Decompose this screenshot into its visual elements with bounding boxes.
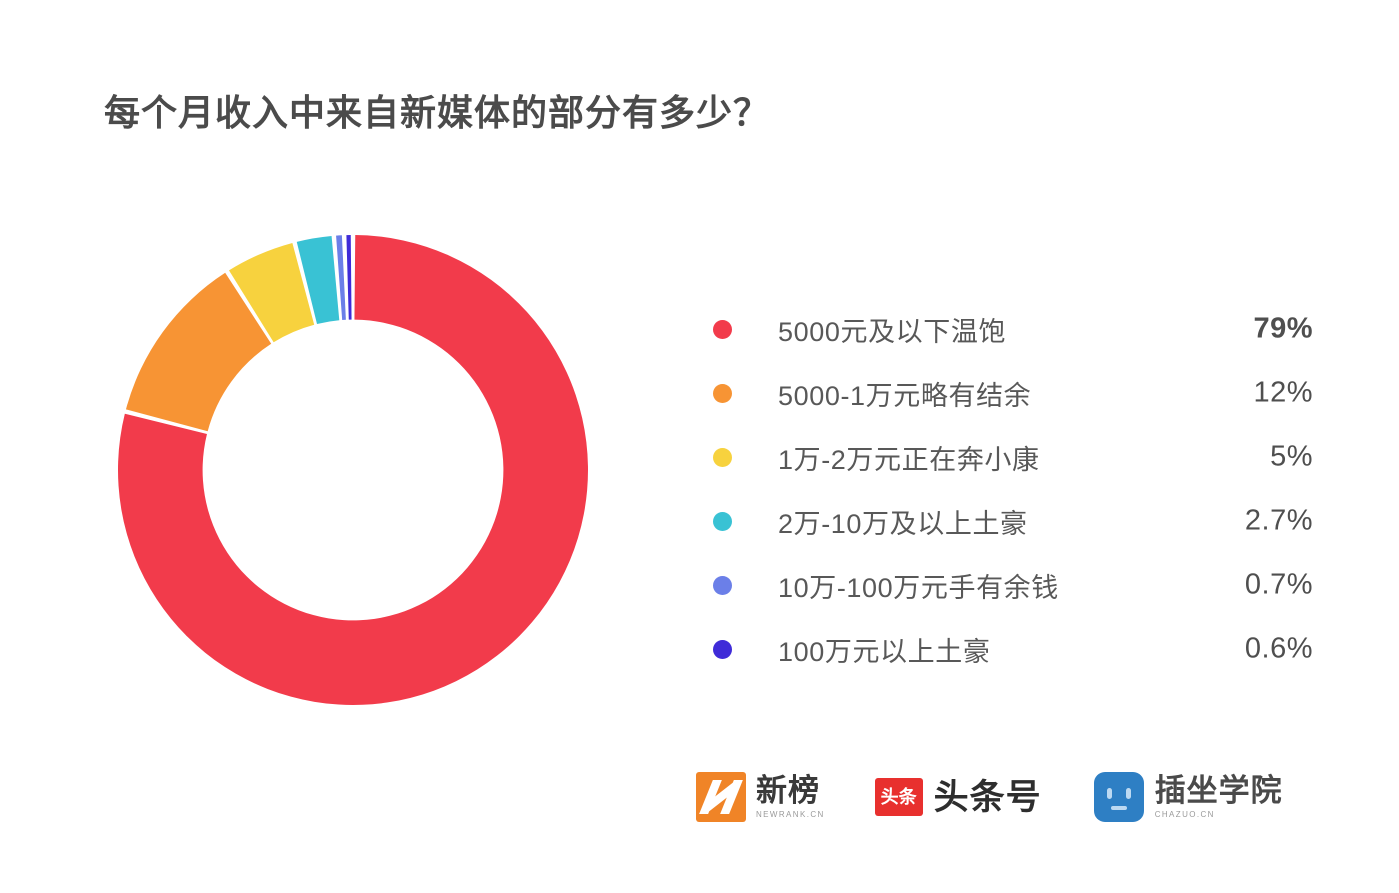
legend-item-label: 5000-1万元略有结余 xyxy=(778,374,1031,413)
newrank-logo-url: NEWRANK.CN xyxy=(756,810,825,819)
logo-toutiaohao: 头条 头条号 xyxy=(875,778,1042,816)
legend-item[interactable]: 1万-2万元正在奔小康 5% xyxy=(713,425,1313,489)
chazuo-logo-name: 插坐学院 xyxy=(1155,775,1283,806)
legend-item-value: 79% xyxy=(1183,313,1313,346)
logo-newrank: 新榜 NEWRANK.CN xyxy=(696,772,825,822)
legend-item-label: 100万元以上土豪 xyxy=(778,630,990,669)
logo-chazuo: 插坐学院 CHAZUO.CN xyxy=(1094,772,1283,822)
legend-color-dot xyxy=(713,384,732,403)
legend-item[interactable]: 10万-100万元手有余钱 0.7% xyxy=(713,553,1313,617)
donut-slice[interactable] xyxy=(346,235,351,320)
legend-item-label: 2万-10万及以上土豪 xyxy=(778,502,1028,541)
legend-item-label: 5000元及以下温饱 xyxy=(778,310,1006,349)
legend-item[interactable]: 2万-10万及以上土豪 2.7% xyxy=(713,489,1313,553)
legend-color-dot xyxy=(713,576,732,595)
toutiaohao-icon-text: 头条 xyxy=(881,788,917,806)
legend-item[interactable]: 100万元以上土豪 0.6% xyxy=(713,617,1313,681)
legend-item-value: 5% xyxy=(1183,441,1313,474)
legend-color-dot xyxy=(713,320,732,339)
toutiaohao-logo-icon: 头条 xyxy=(875,778,923,816)
legend-item-value: 0.7% xyxy=(1183,569,1313,602)
donut-chart-svg xyxy=(114,231,592,709)
legend-item-value: 2.7% xyxy=(1183,505,1313,538)
chazuo-logo-icon xyxy=(1094,772,1144,822)
legend-item-value: 12% xyxy=(1183,377,1313,410)
legend-color-dot xyxy=(713,640,732,659)
donut-chart xyxy=(114,231,592,709)
newrank-logo-icon xyxy=(696,772,746,822)
legend-color-dot xyxy=(713,448,732,467)
legend-item[interactable]: 5000-1万元略有结余 12% xyxy=(713,361,1313,425)
legend-color-dot xyxy=(713,512,732,531)
page-title: 每个月收入中来自新媒体的部分有多少？ xyxy=(104,84,770,136)
legend-item-label: 10万-100万元手有余钱 xyxy=(778,566,1059,605)
donut-slice-group xyxy=(118,235,588,705)
legend-item[interactable]: 5000元及以下温饱 79% xyxy=(713,297,1313,361)
chazuo-logo-url: CHAZUO.CN xyxy=(1155,810,1283,819)
footer-logo-bar: 新榜 NEWRANK.CN 头条 头条号 插坐学院 CHAZUO.CN xyxy=(696,772,1283,822)
legend-item-label: 1万-2万元正在奔小康 xyxy=(778,438,1040,477)
legend-item-value: 0.6% xyxy=(1183,633,1313,666)
chart-legend: 5000元及以下温饱 79% 5000-1万元略有结余 12% 1万-2万元正在… xyxy=(713,297,1313,681)
toutiaohao-logo-name: 头条号 xyxy=(934,780,1042,815)
newrank-logo-name: 新榜 xyxy=(756,775,825,806)
